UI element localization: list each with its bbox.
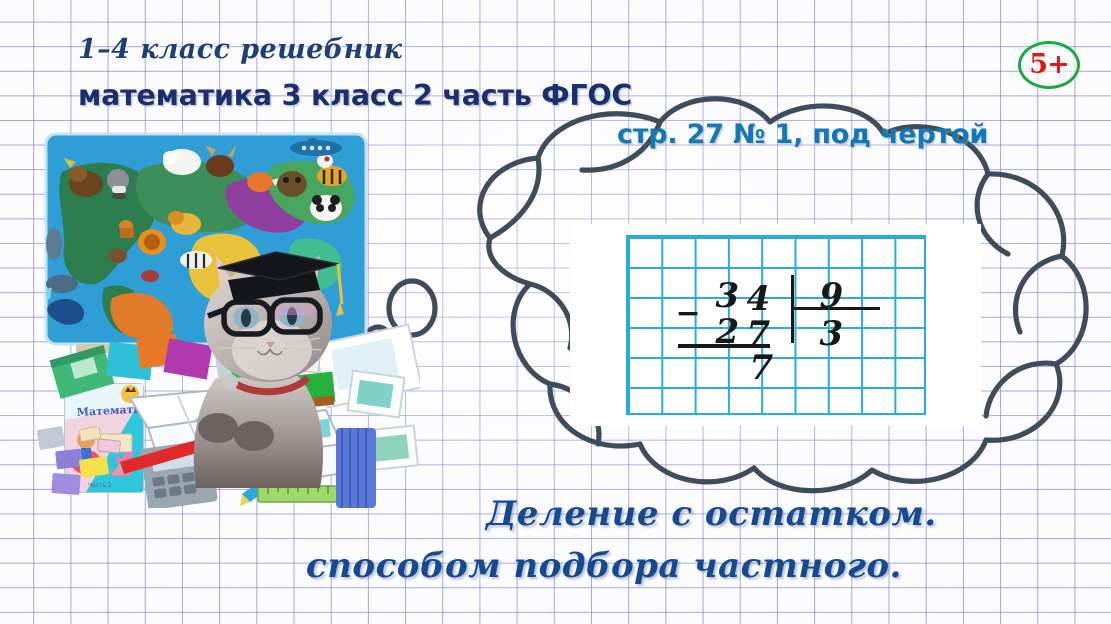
minus-sign: − — [676, 299, 701, 329]
svg-text:Часть 2: Часть 2 — [88, 482, 112, 489]
topic-title-line-2: способом подбора частного. — [306, 546, 902, 586]
page-title-line-1: 1–4 класс решебник — [78, 34, 402, 65]
age-rating-badge: 5+ — [1018, 41, 1080, 89]
page-reference-line: стр. 27 № 1, под чертой — [617, 119, 988, 150]
subtraction-bar — [678, 344, 770, 348]
division-horizontal-bar — [794, 307, 880, 310]
dividend-tens: 3 — [716, 279, 740, 313]
age-rating-label: 5+ — [1029, 51, 1068, 78]
topic-title-line-1: Деление с остатком. — [486, 494, 937, 534]
collage-photo: Математика 3 Часть 2 — [20, 128, 420, 508]
quotient-digit: 3 — [820, 317, 844, 351]
remainder-digit: 7 — [750, 351, 774, 385]
division-grid: − 3 4 2 7 7 9 3 — [626, 235, 926, 415]
page-title-line-2: математика 3 класс 2 часть ФГОС — [78, 79, 632, 112]
dividend-ones: 4 — [747, 282, 771, 316]
division-problem-card: − 3 4 2 7 7 9 3 — [570, 224, 981, 426]
pencil-bundle — [336, 428, 376, 508]
